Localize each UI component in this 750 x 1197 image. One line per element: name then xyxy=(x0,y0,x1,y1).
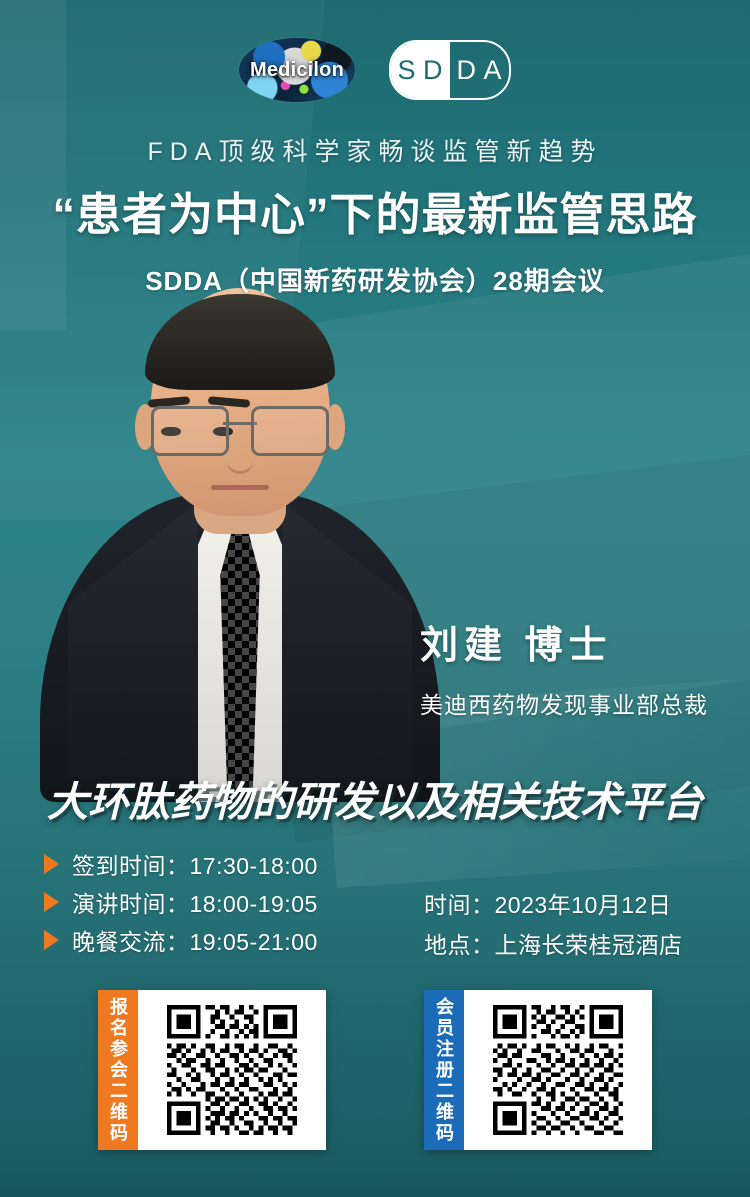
speaker-nose xyxy=(227,441,253,474)
sdda-logo-left-half: S D xyxy=(391,42,450,98)
registration-qr-image[interactable] xyxy=(138,990,326,1150)
registration-qr-card[interactable]: 报名参会二维码 xyxy=(98,990,326,1150)
bottom-edge xyxy=(0,1157,750,1197)
headline-subtitle: SDDA（中国新药研发协会）28期会议 xyxy=(0,261,750,298)
medicilon-logo: Medicilon xyxy=(239,38,355,102)
triangle-right-icon xyxy=(44,854,59,874)
headline-block: FDA顶级科学家畅谈监管新趋势 “患者为中心”下的最新监管思路 SDDA（中国新… xyxy=(0,132,750,298)
headline-title: “患者为中心”下的最新监管思路 xyxy=(0,178,750,243)
venue-date: 时间：2023年10月12日 xyxy=(424,885,683,925)
registration-qr-label: 报名参会二维码 xyxy=(98,990,138,1150)
medicilon-logo-label: Medicilon xyxy=(250,59,344,82)
triangle-right-icon xyxy=(44,930,59,950)
headline-kicker: FDA顶级科学家畅谈监管新趋势 xyxy=(0,132,750,168)
qr-matrix-membership xyxy=(488,1000,628,1140)
qr-matrix-registration xyxy=(162,1000,302,1140)
schedule-item: 晚餐交流：19:05-21:00 xyxy=(44,921,318,959)
speaker-portrait xyxy=(30,242,450,802)
sdda-letter-d2: D xyxy=(456,57,477,84)
schedule-item: 签到时间：17:30-18:00 xyxy=(44,845,318,883)
speaker-role: 美迪西药物发现事业部总裁 xyxy=(420,686,708,720)
venue-block: 时间：2023年10月12日 地点：上海长荣桂冠酒店 xyxy=(424,885,683,965)
sdda-logo-right-half: D A xyxy=(450,42,509,98)
event-poster: Medicilon S D D A FDA顶级科学家畅谈监管新趋势 “患者为中心… xyxy=(0,0,750,1197)
triangle-right-icon xyxy=(44,892,59,912)
speaker-hair xyxy=(145,294,335,390)
schedule-list: 签到时间：17:30-18:00 演讲时间：18:00-19:05 晚餐交流：1… xyxy=(44,845,318,959)
sdda-letter-a: A xyxy=(483,57,502,84)
qr-code-area: 报名参会二维码 xyxy=(0,990,750,1150)
schedule-item: 演讲时间：18:00-19:05 xyxy=(44,883,318,921)
speaker-lens-left xyxy=(151,406,229,456)
schedule-item-text: 演讲时间：18:00-19:05 xyxy=(72,885,318,919)
venue-place: 地点：上海长荣桂冠酒店 xyxy=(424,925,683,965)
speaker-name: 刘建 博士 xyxy=(420,614,613,669)
speaker-mouth xyxy=(211,485,269,490)
topic-title: 大环肽药物的研发以及相关技术平台 xyxy=(0,768,750,828)
sdda-letter-s: S xyxy=(397,57,416,84)
sdda-logo: S D D A xyxy=(389,40,511,100)
schedule-item-text: 晚餐交流：19:05-21:00 xyxy=(72,923,318,957)
membership-qr-image[interactable] xyxy=(464,990,652,1150)
schedule-item-text: 签到时间：17:30-18:00 xyxy=(72,847,318,881)
sdda-letter-d1: D xyxy=(423,57,444,84)
membership-qr-label: 会员注册二维码 xyxy=(424,990,464,1150)
membership-qr-card[interactable]: 会员注册二维码 xyxy=(424,990,652,1150)
speaker-lens-right xyxy=(251,406,329,456)
logo-row: Medicilon S D D A xyxy=(0,38,750,102)
